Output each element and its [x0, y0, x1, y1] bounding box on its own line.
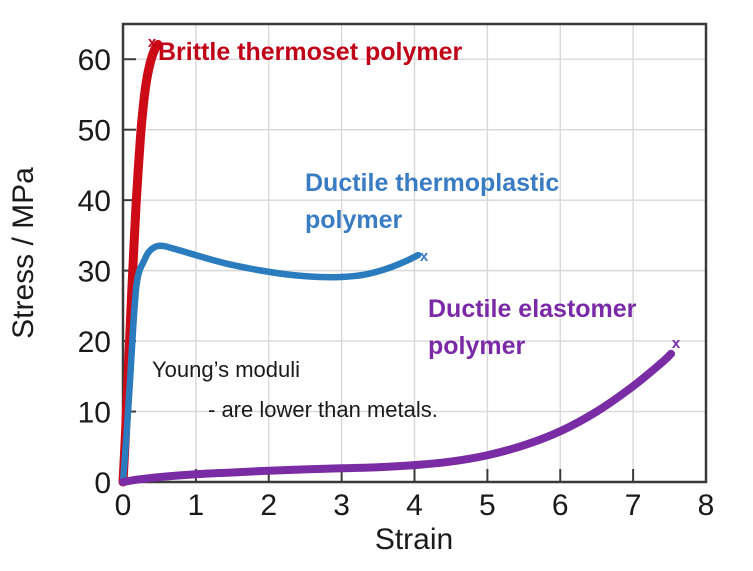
ductile-elastomer-label-line1: Ductile elastomer: [428, 295, 637, 323]
y-axis-title: Stress / MPa: [7, 167, 40, 339]
x-tick-label-3: 3: [333, 489, 350, 522]
y-tick-label-50: 50: [78, 115, 111, 148]
y-tick-label-60: 60: [78, 44, 111, 77]
x-tick-label-2: 2: [260, 489, 277, 522]
elastomer-end-marker: x: [672, 335, 681, 352]
stress-strain-chart: 012345678 0102030405060 xxx Brittle ther…: [0, 0, 753, 571]
x-tick-label-7: 7: [625, 489, 642, 522]
brittle-thermoset-label: Brittle thermoset polymer: [158, 38, 463, 66]
x-axis-title: Strain: [375, 523, 453, 556]
x-tick-label-1: 1: [188, 489, 205, 522]
ductile-elastomer-label-line2: polymer: [428, 332, 526, 360]
x-tick-label-0: 0: [115, 489, 132, 522]
youngs-moduli-note-line1: Young’s moduli: [152, 357, 300, 382]
youngs-moduli-note-line2: - are lower than metals.: [208, 397, 438, 422]
ductile-thermoplastic-label-line1: Ductile thermoplastic: [305, 169, 559, 197]
x-tick-label-8: 8: [698, 489, 715, 522]
x-tick-label-5: 5: [479, 489, 496, 522]
x-tick-label-6: 6: [552, 489, 569, 522]
chart-canvas: 012345678 0102030405060 xxx Brittle ther…: [0, 0, 753, 571]
chart-background: [0, 0, 753, 571]
y-tick-label-20: 20: [78, 326, 111, 359]
ductile-thermoplastic-label-line2: polymer: [305, 206, 403, 234]
thermoplastic-end-marker: x: [420, 248, 429, 265]
y-tick-label-10: 10: [78, 397, 111, 430]
y-tick-label-40: 40: [78, 185, 111, 218]
brittle-end-marker: x: [148, 34, 157, 51]
y-tick-label-30: 30: [78, 256, 111, 289]
x-tick-label-4: 4: [406, 489, 423, 522]
y-tick-label-0: 0: [94, 467, 111, 500]
